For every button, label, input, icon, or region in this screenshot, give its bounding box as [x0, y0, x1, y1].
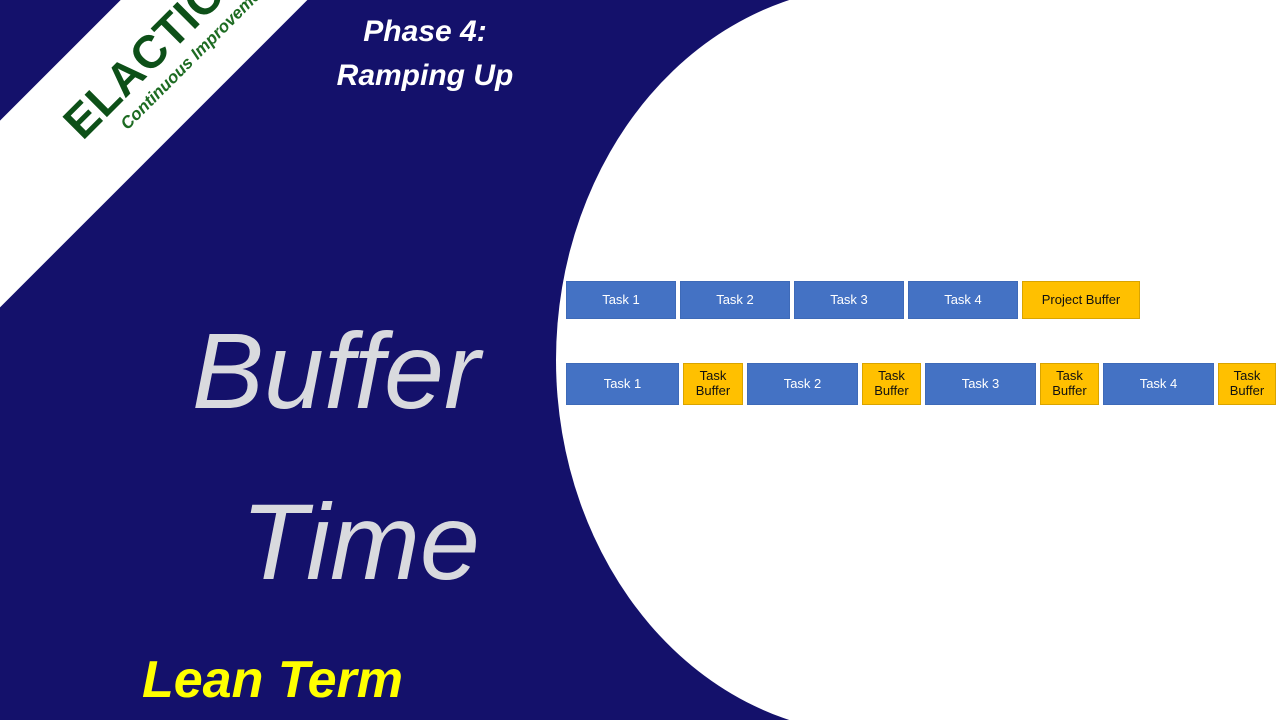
gantt-row-task-buffers: Task 1Task BufferTask 2Task BufferTask 3…	[566, 363, 1280, 405]
page-title-line1: Buffer	[0, 286, 480, 457]
phase-heading: Phase 4: Ramping Up	[300, 10, 550, 97]
gantt-task-segment: Task 2	[747, 363, 858, 405]
gantt-buffer-segment: Task Buffer	[1040, 363, 1099, 405]
gantt-task-segment: Task 3	[794, 281, 904, 319]
gantt-buffer-segment: Task Buffer	[683, 363, 743, 405]
gantt-row-project-buffer: Task 1Task 2Task 3Task 4Project Buffer	[566, 281, 1144, 319]
gantt-task-segment: Task 4	[908, 281, 1018, 319]
phase-heading-line2: Ramping Up	[300, 54, 550, 98]
gantt-buffer-segment: Project Buffer	[1022, 281, 1140, 319]
lean-term-label: Lean Term	[0, 650, 545, 710]
gantt-task-segment: Task 3	[925, 363, 1036, 405]
gantt-buffer-segment: Task Buffer	[862, 363, 921, 405]
gantt-task-segment: Task 2	[680, 281, 790, 319]
gantt-task-segment: Task 1	[566, 281, 676, 319]
content-panel-fill	[900, 0, 1280, 720]
gantt-task-segment: Task 1	[566, 363, 679, 405]
gantt-task-segment: Task 4	[1103, 363, 1214, 405]
page-title-line2: Time	[0, 457, 480, 628]
page-title: Buffer Time	[0, 286, 480, 627]
phase-heading-line1: Phase 4:	[300, 10, 550, 54]
gantt-buffer-segment: Task Buffer	[1218, 363, 1276, 405]
slide-canvas: Task 1Task 2Task 3Task 4Project Buffer T…	[0, 0, 1280, 720]
